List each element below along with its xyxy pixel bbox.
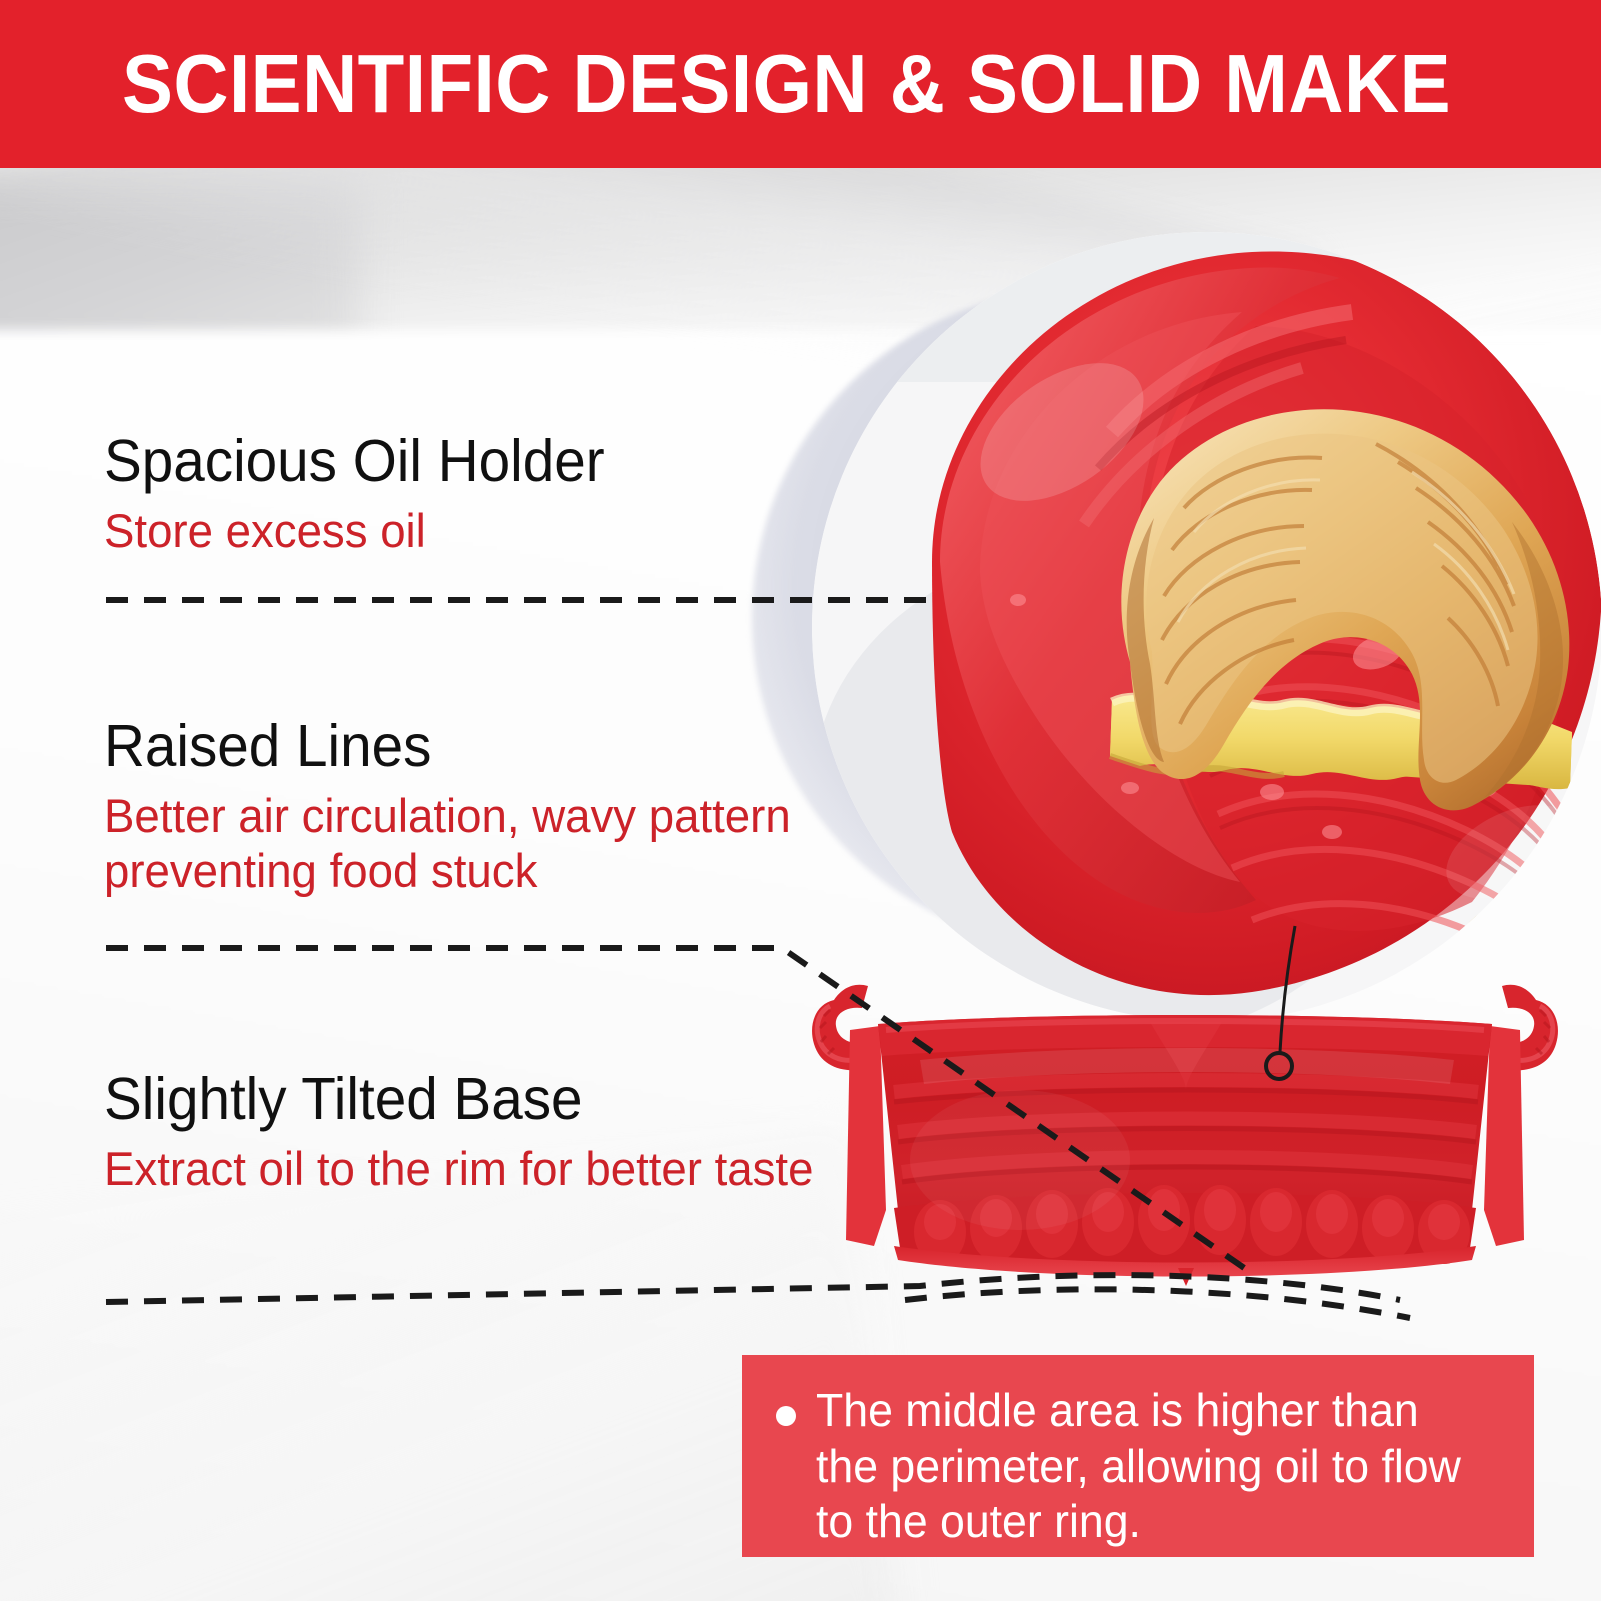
feature-description: Better air circulation, wavy pattern pre… [104,789,841,899]
feature-block-tilted-base: Slightly Tilted Base Extract oil to the … [104,1068,864,1197]
feature-block-raised-lines: Raised Lines Better air circulation, wav… [104,715,864,899]
callout-box: The middle area is higher than the perim… [742,1355,1534,1557]
callout-text: The middle area is higher than the perim… [816,1383,1479,1550]
feature-title: Raised Lines [104,715,834,779]
feature-description: Store excess oil [104,504,841,559]
feature-description: Extract oil to the rim for better taste [104,1142,841,1197]
infographic-page: SCIENTIFIC DESIGN & SOLID MAKE Spacious … [0,0,1601,1601]
header-banner: SCIENTIFIC DESIGN & SOLID MAKE [0,0,1601,168]
page-title: SCIENTIFIC DESIGN & SOLID MAKE [122,36,1451,132]
feature-title: Slightly Tilted Base [104,1068,834,1132]
feature-block-oil-holder: Spacious Oil Holder Store excess oil [104,430,864,559]
product-basket-illustration [790,960,1580,1290]
bullet-icon [776,1406,796,1426]
inset-closeup-photo [812,232,1601,1022]
feature-title: Spacious Oil Holder [104,430,834,494]
